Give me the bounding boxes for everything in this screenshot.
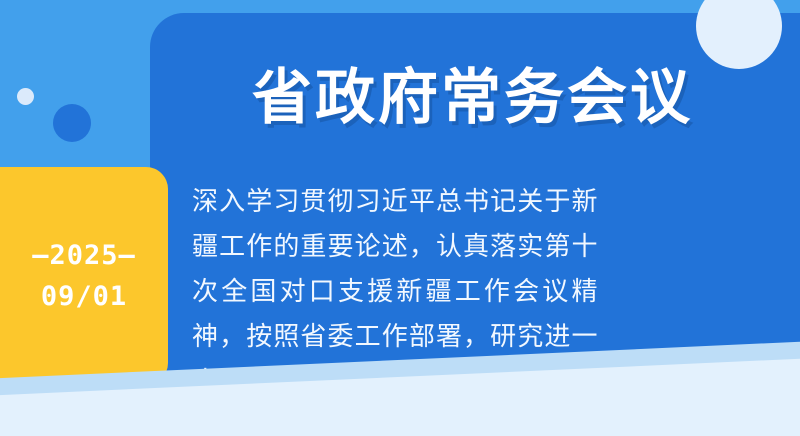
date-badge-year: —2025— [32, 236, 136, 275]
decorative-circle-icon [696, 0, 782, 69]
decorative-small-dot-icon [17, 88, 34, 105]
page-title: 省政府常务会议 [165, 63, 780, 132]
poster-canvas: 省政府常务会议 深入学习贯彻习近平总书记关于新疆工作的重要论述，认真落实第十次全… [0, 0, 800, 436]
date-badge-day: 09/01 [41, 277, 127, 316]
decorative-large-dot-icon [53, 104, 91, 142]
date-badge: —2025— 09/01 [0, 167, 168, 385]
